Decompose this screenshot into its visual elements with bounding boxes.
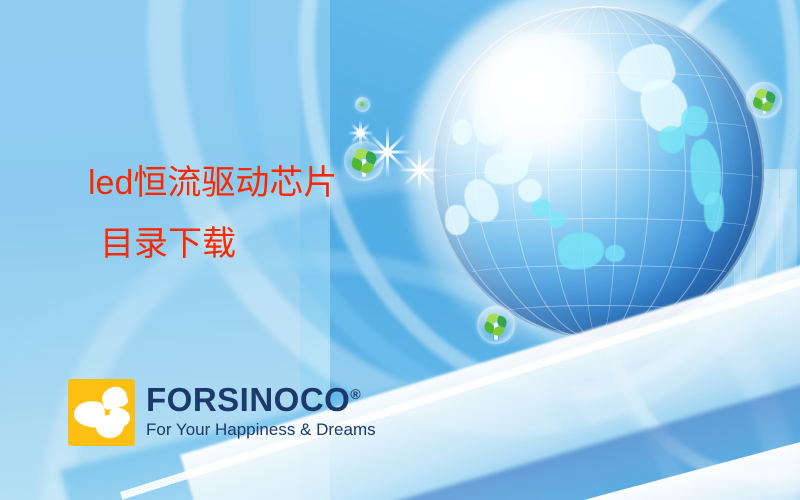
sparkle-ray	[386, 152, 389, 178]
logo-text-block: FORSINOCO® For Your Happiness & Dreams	[146, 379, 376, 438]
registered-trademark-icon: ®	[350, 386, 361, 402]
logo-wordmark-text: FORSINOCO	[146, 381, 350, 418]
bubble-pinwheel-3	[477, 306, 515, 344]
marketing-banner: led恒流驱动芯片 目录下载 FORSINOCO® For Your Happi…	[0, 0, 800, 500]
world-globe	[432, 6, 764, 338]
green-pinwheel-icon	[352, 149, 376, 173]
globe-sphere	[432, 6, 764, 338]
green-pinwheel-icon	[753, 89, 775, 111]
forsinoco-pinwheel-mark-icon	[68, 379, 135, 446]
headline-block: led恒流驱动芯片 目录下载	[88, 166, 337, 261]
logo-wordmark: FORSINOCO®	[146, 383, 376, 416]
green-pinwheel-icon	[485, 314, 508, 337]
logo-petal-left	[73, 399, 107, 428]
bubble-pinwheel-2	[344, 141, 384, 181]
globe-rim-light	[432, 6, 764, 338]
logo-tagline: For Your Happiness & Dreams	[146, 421, 376, 438]
bubble-pinwheel-4	[746, 82, 782, 118]
headline-line-1: led恒流驱动芯片	[88, 166, 337, 200]
forsinoco-logo[interactable]: FORSINOCO® For Your Happiness & Dreams	[68, 379, 376, 446]
headline-line-2: 目录下载	[100, 227, 337, 261]
bubble-pinwheel-1	[355, 97, 370, 112]
green-pinwheel-icon	[358, 100, 367, 109]
sparkle-2-icon	[397, 148, 441, 192]
